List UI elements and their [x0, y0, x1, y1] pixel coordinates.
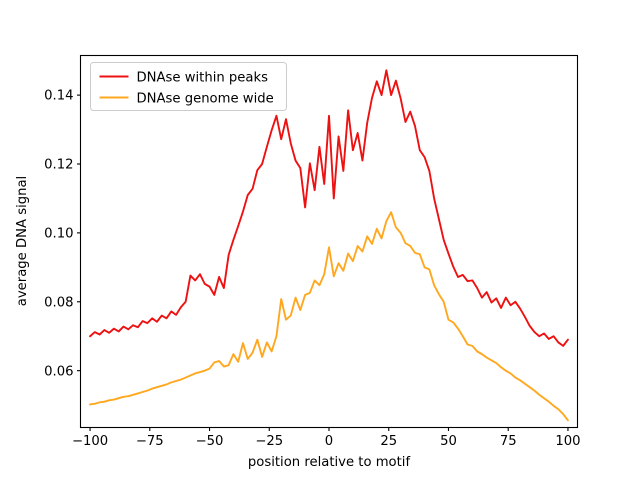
legend-label-within-peaks: DNAse within peaks: [137, 70, 269, 85]
y-axis-label: average DNA signal: [15, 176, 30, 306]
y-tick-label: 0.06: [44, 364, 73, 379]
chart-legend[interactable]: DNAse within peaksDNAse genome wide: [91, 63, 287, 111]
y-tick-label: 0.08: [44, 295, 73, 310]
x-tick-label: −100: [72, 434, 108, 449]
axes-spines: [81, 56, 578, 428]
y-axis-ticks: 0.060.080.100.120.14: [44, 89, 80, 380]
x-tick-label: 0: [325, 434, 333, 449]
x-tick-label: 25: [380, 434, 397, 449]
figure-canvas: −100−75−50−250255075100 0.060.080.100.12…: [0, 0, 640, 480]
y-tick-label: 0.10: [44, 226, 73, 241]
series-line-within-peaks: [90, 70, 568, 346]
y-tick-label: 0.12: [44, 158, 73, 173]
x-tick-label: 100: [555, 434, 580, 449]
legend-label-genome-wide: DNAse genome wide: [137, 91, 274, 106]
x-axis-label: position relative to motif: [248, 455, 411, 470]
chart-plot: −100−75−50−250255075100 0.060.080.100.12…: [0, 0, 640, 480]
x-axis-ticks: −100−75−50−250255075100: [72, 428, 581, 450]
y-tick-label: 0.14: [44, 89, 73, 104]
x-tick-label: −75: [136, 434, 164, 449]
data-series-group: [90, 70, 568, 420]
x-tick-label: −50: [196, 434, 224, 449]
x-tick-label: 75: [500, 434, 517, 449]
x-tick-label: −25: [255, 434, 283, 449]
x-tick-label: 50: [440, 434, 457, 449]
